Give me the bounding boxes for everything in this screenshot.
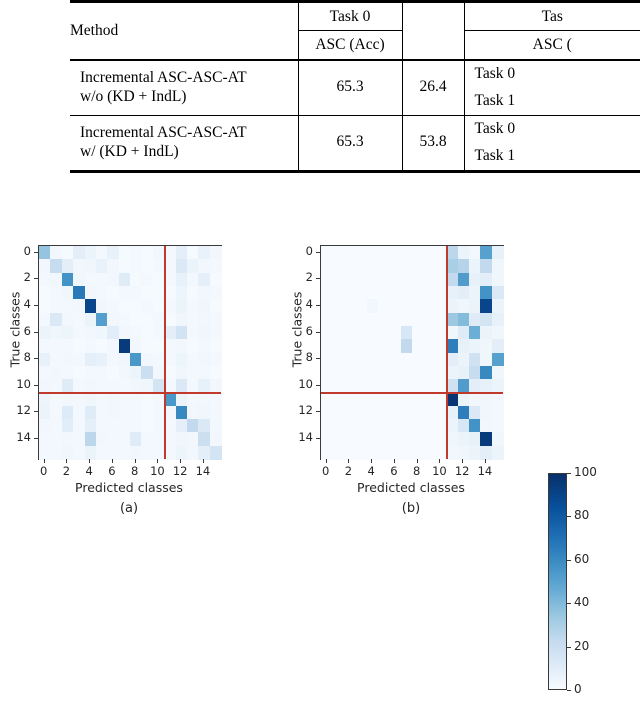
heatmap-cell [176,419,188,433]
heatmap-cell [469,259,481,273]
heatmap-cell [458,339,470,353]
heatmap-cell [367,366,379,380]
heatmap-cell [107,446,119,460]
heatmap-cell [141,259,153,273]
heatmap-cell [198,446,210,460]
heatmap-cell [153,339,165,353]
heatmap-cell [187,366,199,380]
heatmap-cell [198,419,210,433]
heatmap-cell [210,353,222,367]
heatmap-cell [107,339,119,353]
y-tick [316,252,320,253]
heatmap-cell [355,313,367,327]
heatmap-cell [344,419,356,433]
colorbar-tick [567,473,571,474]
heatmap-cell [50,286,62,300]
heatmap-cell [469,339,481,353]
heatmap-cell [141,299,153,313]
heatmap-cell [119,406,131,420]
heatmap-cell [73,273,85,287]
heatmap-cell [153,246,165,260]
heatmap-cell [187,392,199,406]
heatmap-cell [198,326,210,340]
heatmap-cell [73,419,85,433]
heatmap-cell [367,259,379,273]
y-tick-label: 14 [5,430,31,444]
colorbar-tick-label: 20 [574,639,589,653]
y-tick-label: 12 [287,403,313,417]
heatmap-cell [389,432,401,446]
heatmap-cell [119,339,131,353]
heatmap-cell [412,299,424,313]
heatmap-cell [119,432,131,446]
heatmap-cell [119,299,131,313]
heatmap-cell [401,246,413,260]
heatmap-cell [412,286,424,300]
y-tick [34,332,38,333]
heatmap-cell [176,446,188,460]
heatmap-cell [412,246,424,260]
heatmap-cell [480,392,492,406]
heatmap-cell [480,286,492,300]
heatmap-cell [176,392,188,406]
heatmap-cell [73,446,85,460]
heatmap-cell [378,432,390,446]
heatmap-cell [130,446,142,460]
heatmap-cell [446,259,458,273]
row1-task0-b: 53.8 [402,115,464,170]
heatmap-cell [389,313,401,327]
heatmap-cell [119,286,131,300]
heatmap-cell [435,432,447,446]
y-tick [34,358,38,359]
heatmap-cell [39,406,51,420]
heatmap-cell [176,366,188,380]
colorbar-tick-label: 80 [574,508,589,522]
heatmap-cell [321,392,333,406]
heatmap-cell [401,406,413,420]
heatmap-cell [458,392,470,406]
heatmap-cell [412,259,424,273]
heatmap-cell [355,432,367,446]
heatmap-cell [344,339,356,353]
heatmap-cell [153,313,165,327]
heatmap-cell [107,353,119,367]
heatmap-cell [198,379,210,393]
heatmap-cell [401,366,413,380]
heatmap-cell [198,432,210,446]
x-tick [89,459,90,463]
heatmap-cell [198,313,210,327]
x-tick [112,459,113,463]
heatmap-cell [367,286,379,300]
heatmap-cell [176,406,188,420]
x-tick-label: 0 [314,464,338,478]
heatmap-cell [378,313,390,327]
heatmap-cell [176,273,188,287]
heatmap-cell [446,299,458,313]
heatmap-cell [73,259,85,273]
row0-task0-b: 26.4 [402,61,464,116]
heatmap-cell [85,366,97,380]
heatmap-cell [446,379,458,393]
heatmap-cell [446,366,458,380]
colorbar-tick [567,603,571,604]
header-task1: Tas [464,3,640,31]
heatmap-cell [480,326,492,340]
heatmap-cell [96,432,108,446]
heatmap-cell [469,432,481,446]
heatmap-cell [62,286,74,300]
heatmap-cell [141,419,153,433]
heatmap-cell [164,326,176,340]
heatmap-cell [469,246,481,260]
heatmap-cell [62,353,74,367]
heatmap-cell [401,392,413,406]
heatmap-cell [96,419,108,433]
heatmap-cell [141,246,153,260]
heatmap-cell [423,326,435,340]
results-table: Method Task 0 Tas ASC (Acc) ASC ( Increm… [70,0,640,173]
y-tick-label: 8 [287,350,313,364]
heatmap-cell [153,326,165,340]
heatmap-cell [39,353,51,367]
heatmap-cell [141,392,153,406]
heatmap-cell [210,419,222,433]
heatmap-cell [423,299,435,313]
heatmap-cell [378,339,390,353]
heatmap-cell [367,446,379,460]
heatmap-cell [469,313,481,327]
y-tick [316,358,320,359]
heatmap-cell [492,326,504,340]
heatmap-cell [435,286,447,300]
heatmap-cell [39,446,51,460]
colorbar-gradient [548,473,567,690]
heatmap-cell [480,259,492,273]
heatmap-cell [210,299,222,313]
heatmap-cell [62,326,74,340]
heatmap-cell [344,273,356,287]
row1-task1-line1: Task 0 [464,115,640,143]
heatmap-cell [141,406,153,420]
confusion-matrix-figure: True classes Predicted classes (a) 02468… [0,228,640,550]
heatmap-cell [187,353,199,367]
heatmap-cell [187,299,199,313]
heatmap-cell [378,299,390,313]
heatmap-cell [176,379,188,393]
heatmap-cell [164,313,176,327]
heatmap-cell [389,406,401,420]
colorbar-tick [567,647,571,648]
heatmap-cell [153,446,165,460]
heatmap-cell [73,299,85,313]
heatmap-cell [321,299,333,313]
heatmap-cell [130,392,142,406]
heatmap-cell [378,406,390,420]
heatmap-cell [141,432,153,446]
heatmap-cell [39,432,51,446]
heatmap-cell [85,419,97,433]
heatmap-cell [39,326,51,340]
heatmap-cell [119,392,131,406]
header-task1-sub: ASC ( [464,31,640,60]
heatmap-cell [423,246,435,260]
heatmap-cell [153,366,165,380]
heatmap-cell [435,259,447,273]
heatmap-cell [367,313,379,327]
heatmap-cell [321,353,333,367]
heatmap-cell [367,273,379,287]
heatmap-cell [458,419,470,433]
heatmap-cell [130,432,142,446]
x-tick-label: 14 [473,464,497,478]
heatmap-cell [435,326,447,340]
colorbar: 020406080100 [548,473,640,705]
heatmap-cell [367,246,379,260]
heatmap-cell [469,406,481,420]
heatmap-cell [107,379,119,393]
heatmap-cell [198,392,210,406]
heatmap-cell [378,446,390,460]
heatmap-cell [107,313,119,327]
heatmap-cell [423,259,435,273]
x-tick-label: 6 [100,464,124,478]
heatmap-cell [107,246,119,260]
heatmap-cell [378,259,390,273]
x-tick-label: 8 [405,464,429,478]
heatmap-cell [332,366,344,380]
heatmap-cell [378,392,390,406]
y-tick-label: 14 [287,430,313,444]
heatmap-cell [96,379,108,393]
heatmap-cell [176,259,188,273]
heatmap-cell [492,392,504,406]
heatmap-cell [332,273,344,287]
heatmap-cell [164,246,176,260]
y-tick [34,252,38,253]
heatmap-cell [141,273,153,287]
heatmap-cell [73,246,85,260]
y-tick [316,438,320,439]
heatmap-cell [73,366,85,380]
heatmap-cell [130,286,142,300]
heatmap-cell [130,406,142,420]
heatmap-cell [164,353,176,367]
heatmap-cell [389,392,401,406]
heatmap-cell [321,339,333,353]
heatmap-cell [321,446,333,460]
heatmap-cell [412,313,424,327]
heatmap-cell [96,392,108,406]
y-tick-label: 6 [287,324,313,338]
heatmap-cell [107,406,119,420]
heatmap-cell [50,379,62,393]
heatmap-cell [423,286,435,300]
heatmap-cell [50,326,62,340]
heatmap-cell [153,379,165,393]
heatmap-cell [176,353,188,367]
y-tick [316,278,320,279]
x-tick [157,459,158,463]
heatmap-cell [176,246,188,260]
heatmap-cell [446,419,458,433]
heatmap-cell [492,366,504,380]
heatmap-cell [492,446,504,460]
heatmap-cell [210,366,222,380]
heatmap-cell [332,392,344,406]
y-tick-label: 4 [287,297,313,311]
heatmap-cell [355,446,367,460]
heatmap-cell [412,339,424,353]
heatmap-cell [412,366,424,380]
heatmap-cell [85,339,97,353]
header-task0-sub: ASC (Acc) [298,31,402,60]
heatmap-cell [389,419,401,433]
heatmap-cell [480,299,492,313]
heatmap-cell [458,366,470,380]
heatmap-cell [210,392,222,406]
heatmap-cell [412,273,424,287]
heatmap-cell [198,299,210,313]
row0-method-line2: w/o (KD + IndL) [80,88,298,106]
heatmap-cell [321,246,333,260]
x-tick [348,459,349,463]
x-tick-label: 4 [359,464,383,478]
x-tick-label: 12 [168,464,192,478]
heatmap-cell [198,273,210,287]
heatmap-cell [164,286,176,300]
x-tick [135,459,136,463]
heatmap-cell [344,313,356,327]
heatmap-cell [355,326,367,340]
heatmap-cell [107,259,119,273]
heatmap-cell [435,313,447,327]
heatmap-cell [492,313,504,327]
heatmap-cell [119,353,131,367]
heatmap-cell [412,392,424,406]
heatmap-cell [85,299,97,313]
heatmap-cell [164,446,176,460]
heatmap-b [320,245,504,460]
heatmap-cell [355,419,367,433]
heatmap-cell [480,273,492,287]
heatmap-cell [378,326,390,340]
heatmap-cell [389,299,401,313]
heatmap-cell [389,259,401,273]
heatmap-cell [458,406,470,420]
heatmap-cell [458,299,470,313]
heatmap-cell [130,299,142,313]
heatmap-cell [492,432,504,446]
heatmap-cell [107,326,119,340]
colorbar-tick-label: 40 [574,595,589,609]
heatmap-cell [210,259,222,273]
heatmap-cell [164,406,176,420]
heatmap-cell [389,353,401,367]
heatmap-cell [187,419,199,433]
heatmap-cell [480,313,492,327]
heatmap-cell [73,326,85,340]
heatmap-cell [344,379,356,393]
heatmap-cell [412,446,424,460]
heatmap-cell [73,392,85,406]
heatmap-cell [107,432,119,446]
heatmap-cell [96,339,108,353]
heatmap-cell [187,313,199,327]
header-task0: Task 0 [298,3,402,31]
heatmap-cell [50,406,62,420]
table-bottomrule [70,170,640,173]
heatmap-cell [210,273,222,287]
heatmap-cell [446,273,458,287]
heatmap-cell [458,286,470,300]
heatmap-cell [321,259,333,273]
heatmap-cell [141,353,153,367]
heatmap-cell [446,286,458,300]
heatmap-cell [344,299,356,313]
heatmap-cell [50,273,62,287]
heatmap-cell [130,339,142,353]
heatmap-cell [62,432,74,446]
heatmap-cell [141,379,153,393]
heatmap-cell [367,379,379,393]
heatmap-cell [153,286,165,300]
heatmap-cell [119,419,131,433]
heatmap-cell [469,353,481,367]
y-tick-label: 0 [287,244,313,258]
heatmap-cell [39,419,51,433]
heatmap-cell [344,246,356,260]
heatmap-cell [85,313,97,327]
heatmap-cell [107,419,119,433]
row0-method-line1: Incremental ASC-ASC-AT [80,69,298,87]
heatmap-cell [153,406,165,420]
heatmap-a [38,245,222,460]
heatmap-cell [50,259,62,273]
heatmap-cell [469,446,481,460]
header-task0-spacer [402,3,464,31]
y-tick-label: 6 [5,324,31,338]
heatmap-cell [321,326,333,340]
heatmap-cell [62,406,74,420]
heatmap-cell [423,406,435,420]
heatmap-cell [73,313,85,327]
heatmap-cell [435,392,447,406]
heatmap-cell [50,313,62,327]
heatmap-cell [321,313,333,327]
heatmap-cell [401,259,413,273]
heatmap-cell [176,286,188,300]
heatmap-cell [355,286,367,300]
heatmap-cell [153,419,165,433]
heatmap-cell [492,419,504,433]
heatmap-cell [62,379,74,393]
heatmap-cell [96,326,108,340]
heatmap-cell [332,339,344,353]
header-task0-sub-spacer [402,31,464,60]
heatmap-cell [96,406,108,420]
heatmap-cell [187,379,199,393]
heatmap-cell [458,446,470,460]
y-tick-label: 2 [5,270,31,284]
heatmap-cell [355,353,367,367]
heatmap-cell [480,366,492,380]
heatmap-cell [367,353,379,367]
heatmap-cell [153,432,165,446]
heatmap-cell [39,246,51,260]
heatmap-cell [492,299,504,313]
